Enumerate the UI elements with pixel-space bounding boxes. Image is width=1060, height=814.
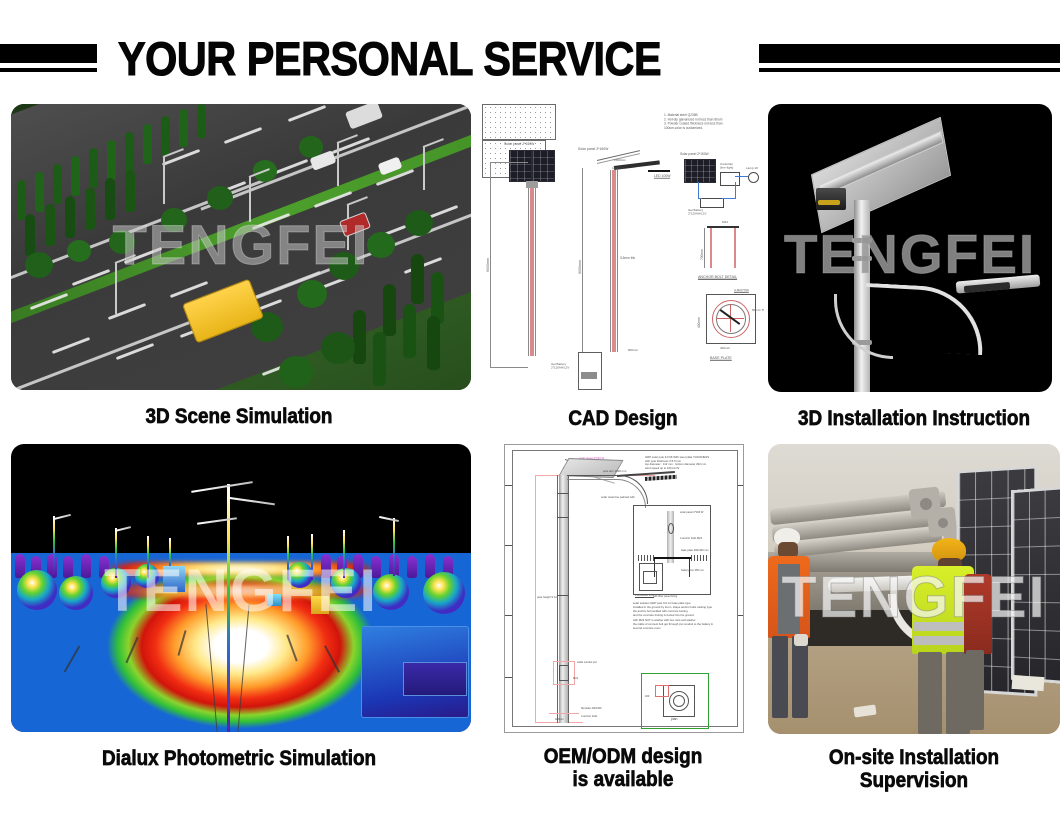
photo-debris <box>1012 675 1045 691</box>
oem-plan-bolt <box>655 685 669 697</box>
dialux-pole-arm <box>227 497 275 506</box>
header-rule-right <box>759 44 1060 72</box>
dialux-pole-arm <box>115 526 131 532</box>
render-lamp-arm-lower <box>834 294 893 359</box>
cad-label-arm-len: 1500mm <box>614 158 626 162</box>
card-installation-instruction-3d-caption: 3D Installation Instruction <box>783 408 1046 431</box>
photo-worker-vest <box>964 574 992 654</box>
card-dialux-photometric-caption: Dialux Photometric Simulation <box>24 748 454 771</box>
cad-pole-mid-edge <box>617 170 618 352</box>
photo-worker-leg <box>772 636 788 718</box>
card-oem-odm-design-image[interactable]: solar panel 2*160 W dimension 1575x795 m… <box>504 444 744 733</box>
card-row-1: TENGFEI 3D Scene Simulation 1. Material … <box>0 104 1060 431</box>
cad-label-bolt-spec: 4-M24*700 <box>734 288 749 292</box>
cad-label-solar-panel-left: Solar panel 2*150W <box>504 142 534 146</box>
scene-tree <box>67 240 91 262</box>
service-card-grid: TENGFEI 3D Scene Simulation 1. Material … <box>0 104 1060 793</box>
oem-base-plate-line <box>549 713 579 714</box>
render-pole-clamp <box>852 256 872 261</box>
oem-detail-callout: 4 anchor bolts M24 <box>680 537 702 540</box>
header-rule-left-bar <box>0 44 97 63</box>
cad-label-lamp: Lamp 1# <box>746 166 758 170</box>
dialux-bush <box>371 556 381 578</box>
cad-dim-tick <box>490 162 528 163</box>
oem-base-callout: M24 <box>573 677 578 680</box>
dialux-tree-sphere <box>59 576 93 610</box>
oem-pole-joint <box>557 517 569 518</box>
photo-solar-panel-back <box>1011 485 1060 684</box>
cad-dim-line-left <box>490 162 491 368</box>
cad-dim-bolt-len: 700mm <box>700 249 704 260</box>
cad-label-led: LED 100W <box>654 174 671 179</box>
scene-tree <box>85 188 95 230</box>
cad-label-solar-panel-mid: Solar panel 2*160W <box>578 147 608 151</box>
scene-tree <box>109 230 135 254</box>
photo-worker-leg <box>966 650 984 730</box>
scene-tree <box>105 178 115 220</box>
cad-battery-box <box>581 372 597 379</box>
cad-label-solar-panel-right: Solar panel 2*150W <box>680 152 709 156</box>
photo-worker-leg <box>792 636 808 718</box>
oem-base-battery <box>559 665 569 681</box>
cad-label-bolt-top: M24 <box>722 220 728 224</box>
scene-tree <box>65 196 75 238</box>
photo-worker-shirt <box>778 564 800 634</box>
dialux-light-pole <box>287 536 289 580</box>
dialux-tree-sphere <box>287 562 313 588</box>
dialux-tree-sphere <box>17 570 57 610</box>
oem-body-note: solar solution GRP pole 9.0 mt base plat… <box>633 601 713 630</box>
card-oem-odm-design-caption: OEM/ODM design is available <box>493 746 754 792</box>
cad-bracket-left <box>526 181 538 188</box>
oem-detail-title: FOUNDATION <box>635 593 654 597</box>
header-rule-right-hairline <box>759 68 1060 72</box>
oem-detail-hole <box>668 523 674 534</box>
scene-tree <box>35 172 44 212</box>
oem-plan-label: plan <box>671 717 677 721</box>
oem-base-plate-dim: 400mm <box>555 718 564 721</box>
scene-tree <box>367 232 395 258</box>
card-scene-3d-simulation-image[interactable]: TENGFEI <box>11 104 471 390</box>
cad-dim-height-left: 9000mm <box>486 258 490 272</box>
sheet-tick <box>505 615 512 616</box>
card-row-2: TENGFEI Dialux Photometric Simulation <box>0 444 1060 793</box>
dialux-light-pole <box>393 518 395 576</box>
dialux-light-pole <box>311 534 313 580</box>
header-rule-right-bar <box>759 44 1060 63</box>
dialux-light-pole <box>53 516 55 574</box>
cad-battery-pit <box>578 352 602 390</box>
cad-pole-left-edge <box>528 188 529 356</box>
scene-tree <box>17 180 26 220</box>
oem-detail-hatch <box>691 555 707 561</box>
scene-tree <box>279 356 313 388</box>
cad-label-controller: Controller (line-light) <box>720 162 733 170</box>
cad-anchor-bolt <box>734 228 736 268</box>
dialux-tree-sphere <box>331 568 361 598</box>
card-cad-design-caption: CAD Design <box>493 408 754 431</box>
cad-foundation-left <box>482 104 556 140</box>
cad-dim-line-mid <box>582 168 583 354</box>
cad-solar-panel-left-2 <box>532 150 555 182</box>
scene-tree <box>179 109 188 147</box>
card-installation-instruction-3d[interactable]: TENGFEI 3D Installation Instruction <box>768 104 1060 431</box>
scene-tree <box>143 124 152 164</box>
oem-detail-pole <box>667 511 674 563</box>
scene-tree <box>125 170 135 212</box>
card-on-site-caption-line2: Supervision <box>783 770 1046 793</box>
scene-tree <box>25 252 53 278</box>
header-rule-left-hairline <box>0 68 97 72</box>
render-pole-clamp <box>852 238 872 243</box>
dialux-pole-arm <box>379 516 399 522</box>
oem-detail-anchor <box>689 559 690 577</box>
page-title: YOUR PERSONAL SERVICE <box>118 35 661 82</box>
render-led-strip <box>818 200 840 205</box>
scene-tree <box>405 210 433 236</box>
scene-tree <box>373 332 386 386</box>
cad-anchor-bolt <box>710 228 712 268</box>
scene-tree <box>125 132 134 172</box>
dialux-object-box <box>311 596 329 614</box>
scene-tree <box>403 304 416 358</box>
cad-solar-panel-schematic <box>684 159 716 183</box>
scene-tree <box>297 280 327 308</box>
card-dialux-photometric[interactable]: TENGFEI Dialux Photometric Simulation <box>0 444 478 793</box>
card-cad-design-image[interactable]: 1. Material steel Q235B 2. Hot-dip galva… <box>482 104 764 392</box>
scene-tree <box>383 284 396 336</box>
card-on-site-caption-line1: On-site Installation <box>783 747 1046 770</box>
dialux-light-pole-main <box>227 484 230 732</box>
cad-led-fixture <box>648 170 670 172</box>
scene-tree <box>71 156 80 196</box>
card-scene-3d-simulation-caption: 3D Scene Simulation <box>24 406 454 429</box>
dialux-bush <box>407 556 417 578</box>
card-cad-design[interactable]: 1. Material steel Q235B 2. Hot-dip galva… <box>478 104 768 431</box>
dialux-object-box <box>163 566 185 592</box>
oem-left-callout: pole height 9 mt <box>537 595 557 599</box>
dialux-glow-band <box>11 562 471 576</box>
sheet-tick <box>738 615 743 616</box>
cad-wire <box>735 176 748 177</box>
card-oem-odm-design[interactable]: solar panel 2*160 W dimension 1575x795 m… <box>478 444 768 793</box>
scene-tree <box>25 214 35 256</box>
card-on-site-supervision[interactable]: TENGFEI On-site Installation Supervision <box>768 444 1060 793</box>
cad-label-plate-dim: 400mm <box>697 317 701 328</box>
oem-title-note: GRP solar pole 9.0 Mt With steel plate T… <box>645 456 709 471</box>
scene-street-light <box>163 156 165 204</box>
card-oem-odm-caption-line2: is available <box>493 769 754 792</box>
scene-tree <box>45 204 55 246</box>
photo-flange-hole <box>938 518 948 528</box>
cad-dim-tick <box>490 367 528 368</box>
cad-wire <box>735 182 736 199</box>
sheet-tick <box>505 545 512 546</box>
scene-street-light <box>249 176 251 222</box>
page-header: YOUR PERSONAL SERVICE <box>0 22 1060 94</box>
cad-pole-left <box>530 188 534 356</box>
scene-tree <box>329 252 359 280</box>
cad-controller-box <box>720 172 740 186</box>
scene-tree <box>107 140 116 180</box>
render-battery-box <box>816 188 846 210</box>
dialux-pole-arm <box>197 517 237 525</box>
cad-pole-left-edge <box>535 188 536 356</box>
oem-plan-inner-circle <box>673 695 685 707</box>
scene-street-light <box>115 262 117 314</box>
photo-flange-hole <box>920 498 932 510</box>
service-showcase-page: YOUR PERSONAL SERVICE <box>0 0 1060 814</box>
cad-dim-line-bolt <box>704 228 705 268</box>
oem-pole <box>559 475 568 723</box>
dialux-tree-sphere <box>373 574 409 610</box>
oem-callout-arm: pole arm 1500 mm <box>603 469 626 473</box>
scene-street-light <box>423 146 425 190</box>
cad-gel-battery-symbol <box>700 198 724 208</box>
dialux-object-box <box>267 594 281 606</box>
dialux-pole-arm <box>53 514 71 520</box>
cad-pole-mid-edge <box>610 170 611 352</box>
card-scene-3d-simulation[interactable]: TENGFEI 3D Scene Simulation <box>0 104 478 431</box>
cad-wire <box>698 198 702 199</box>
cad-label-thickness: 3.5mm thk <box>620 256 635 260</box>
sheet-tick <box>505 485 512 486</box>
oem-base-plate-callout: flat plate 400x400 <box>581 707 601 710</box>
oem-detail-battery <box>643 571 657 584</box>
dialux-light-pole <box>343 530 345 578</box>
card-installation-instruction-3d-image[interactable]: TENGFEI <box>768 104 1052 392</box>
cad-lamp-symbol <box>748 172 759 183</box>
scene-tree <box>321 332 355 364</box>
cad-title-anchor-bolt-detail: ANCHOR BOLT DETAIL <box>698 275 737 280</box>
oem-detail-callout: base plate 400x400 mm <box>681 549 709 552</box>
card-on-site-supervision-image[interactable]: TENGFEI <box>768 444 1060 734</box>
scene-tree <box>207 186 233 210</box>
dialux-pole-arm <box>191 481 253 493</box>
oem-base-plate-callout2: 4 anchor bolts <box>581 715 597 718</box>
photo-worker-glove <box>794 634 808 646</box>
scene-tree <box>89 148 98 188</box>
card-dialux-photometric-image[interactable]: TENGFEI <box>11 444 471 732</box>
cad-label-plate-hole: 50mm THK <box>752 308 764 312</box>
cad-notes: 1. Material steel Q235B 2. Hot-dip galva… <box>664 113 723 130</box>
scene-tree <box>161 208 187 232</box>
header-rule-left <box>0 44 97 72</box>
cad-label-gel-battery: Gel Battery 2*120AH/12V <box>688 208 706 216</box>
oem-pole-edge <box>557 475 558 723</box>
dialux-bush <box>321 554 331 578</box>
cad-title-base-plate: BASE PLATE <box>710 356 732 360</box>
card-oem-odm-caption-line1: OEM/ODM design <box>493 746 754 769</box>
photo-worker-leg <box>918 652 942 734</box>
scene-tree <box>161 116 170 156</box>
cad-dim-height-mid: 9000mm <box>578 260 582 274</box>
scene-tree <box>53 164 62 204</box>
oem-plan-dim: 400 <box>645 695 649 698</box>
cad-label-plate-dim2: 400mm <box>720 346 730 350</box>
oem-callout-galv: solar mast line painted with <box>601 495 635 499</box>
cad-wire <box>722 198 736 199</box>
dialux-light-pole <box>147 536 149 578</box>
scene-street-light <box>337 142 339 186</box>
dialux-bus-window <box>403 662 467 696</box>
sheet-tick <box>738 485 743 486</box>
oem-detail-hatch <box>638 555 654 561</box>
sheet-tick <box>505 677 512 678</box>
dialux-light-pole <box>115 528 117 578</box>
oem-detail-callout: battery box 350 mm <box>681 569 704 572</box>
dialux-tree-sphere <box>423 572 465 614</box>
oem-detail-subnote: with fiber panel lining <box>653 595 677 598</box>
oem-detail-callout: solar panel 2*160 W <box>680 511 703 514</box>
oem-pole-joint <box>557 595 569 596</box>
scene-tree <box>427 316 440 370</box>
oem-base-callout: cable conduit pvc <box>577 661 597 664</box>
oem-pole-edge <box>568 475 569 723</box>
scene-tree <box>411 254 424 304</box>
card-on-site-supervision-caption: On-site Installation Supervision <box>783 747 1046 793</box>
scene-tree <box>197 104 206 138</box>
dialux-bush <box>81 554 91 578</box>
oem-dim-frame <box>535 475 536 723</box>
cad-label-gel-battery-mid: Gel Battery 2*120AH/12V <box>551 362 569 370</box>
scene-tree <box>353 310 366 364</box>
cad-solar-panel-left <box>509 150 532 182</box>
cad-wire <box>698 182 699 199</box>
cad-pole-mid <box>612 170 616 352</box>
dialux-bush <box>63 556 73 578</box>
cad-label-foundation: 800mm <box>628 348 638 352</box>
